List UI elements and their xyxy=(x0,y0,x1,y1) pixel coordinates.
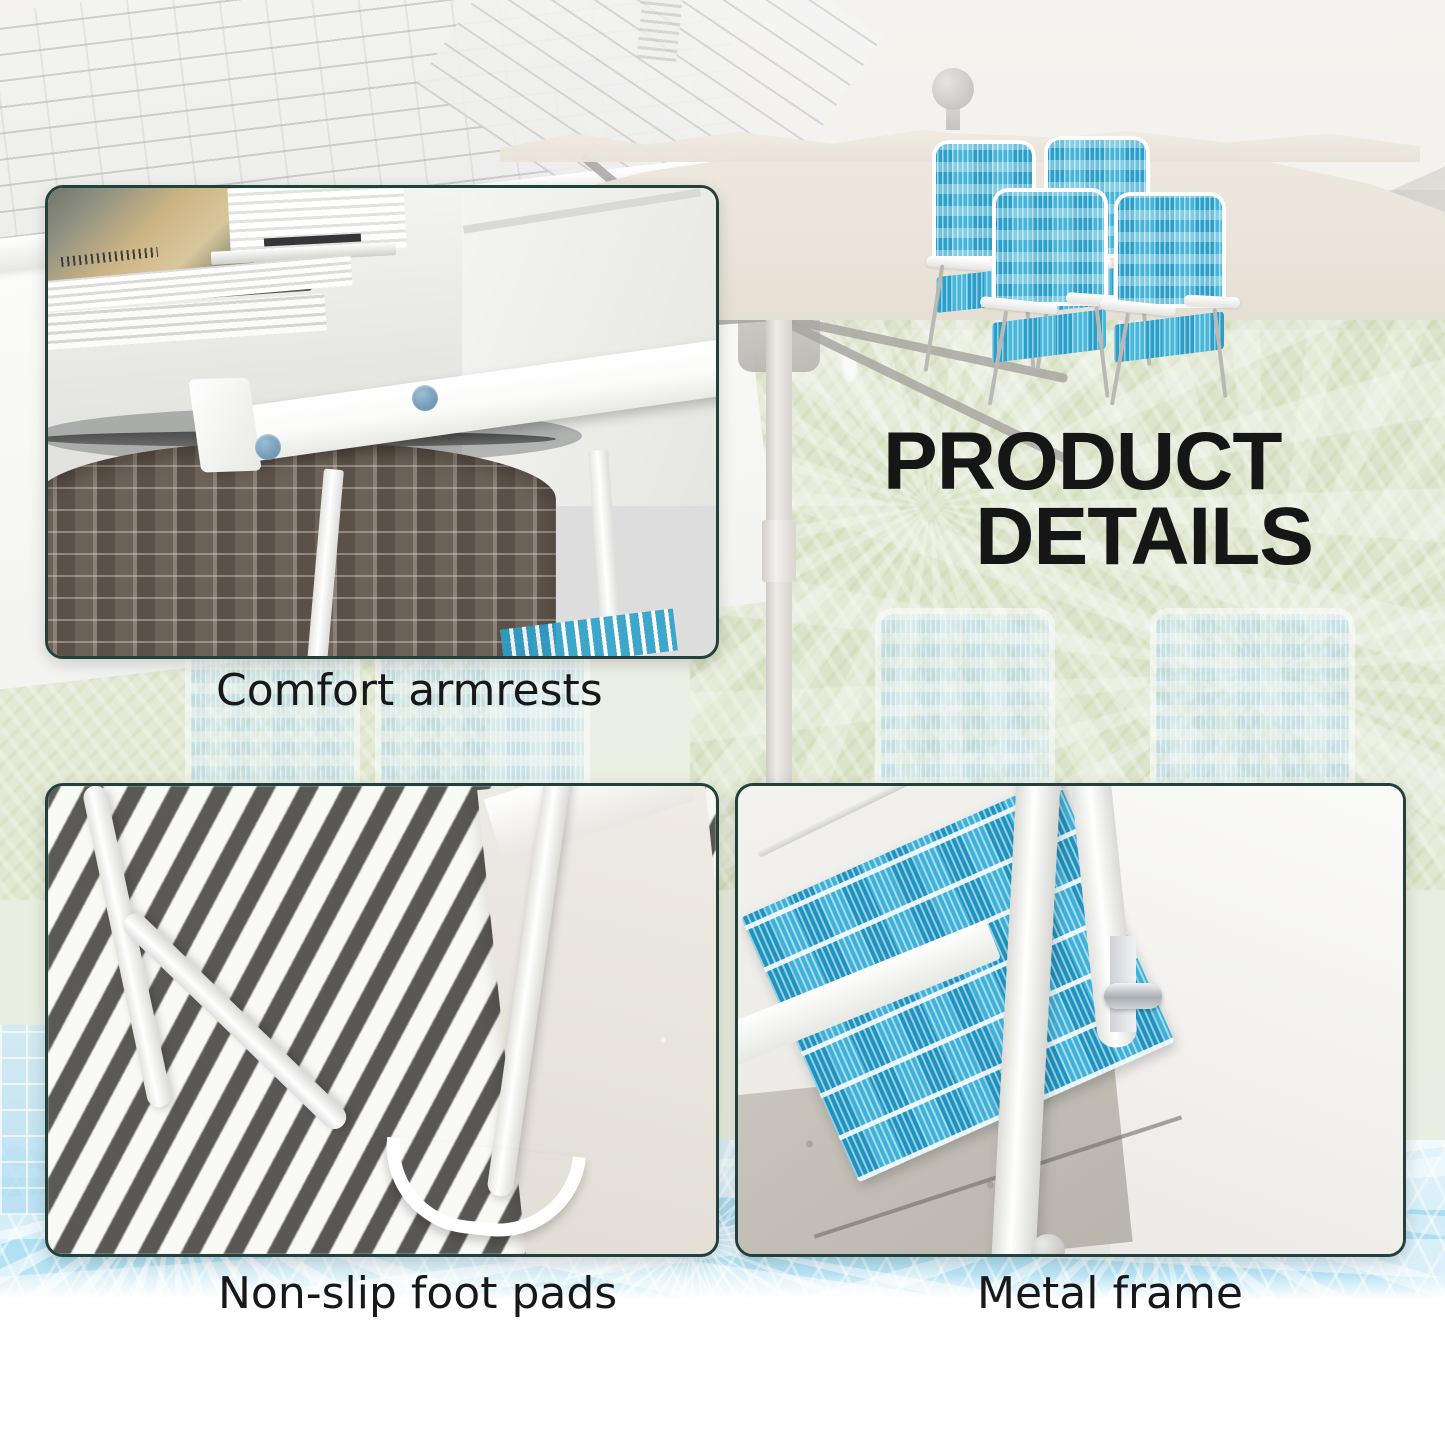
panel-metal-frame xyxy=(735,783,1406,1257)
armrest-rivet xyxy=(412,385,438,411)
caption-non-slip-foot-pads: Non-slip foot pads xyxy=(218,1268,617,1319)
ghost-webbing-swatch xyxy=(1150,608,1355,788)
chair-foot-cap xyxy=(1031,1234,1065,1257)
white-footer-area xyxy=(0,1299,1445,1445)
chrome-hinge-bolt xyxy=(1104,983,1162,1009)
chair-webbing-back xyxy=(992,188,1108,306)
chair-webbing-seat xyxy=(992,309,1106,363)
panel-non-slip-foot-pads xyxy=(45,783,719,1257)
caption-comfort-armrests: Comfort armrests xyxy=(216,665,603,716)
armrest-rivet xyxy=(255,434,281,460)
umbrella-pole-joint xyxy=(762,520,796,582)
ghost-webbing-swatch xyxy=(875,608,1055,788)
product-details-image: PRODUCT DETAILS Comfort armrests Non-sli… xyxy=(0,0,1445,1445)
chair-front-left xyxy=(992,188,1114,403)
armrest-end-cap xyxy=(188,377,261,472)
umbrella-finial-icon xyxy=(932,68,974,110)
page-title: PRODUCT DETAILS xyxy=(883,424,1313,575)
wicker-basket xyxy=(45,441,556,659)
chair-webbing-back xyxy=(1114,192,1226,308)
chair-group xyxy=(930,140,1230,405)
chair-webbing-seat xyxy=(1114,311,1224,363)
page-title-line2: DETAILS xyxy=(883,499,1313,574)
caption-metal-frame: Metal frame xyxy=(977,1268,1243,1319)
chair-front-right xyxy=(1114,192,1234,404)
panel-comfort-armrests xyxy=(45,185,719,659)
